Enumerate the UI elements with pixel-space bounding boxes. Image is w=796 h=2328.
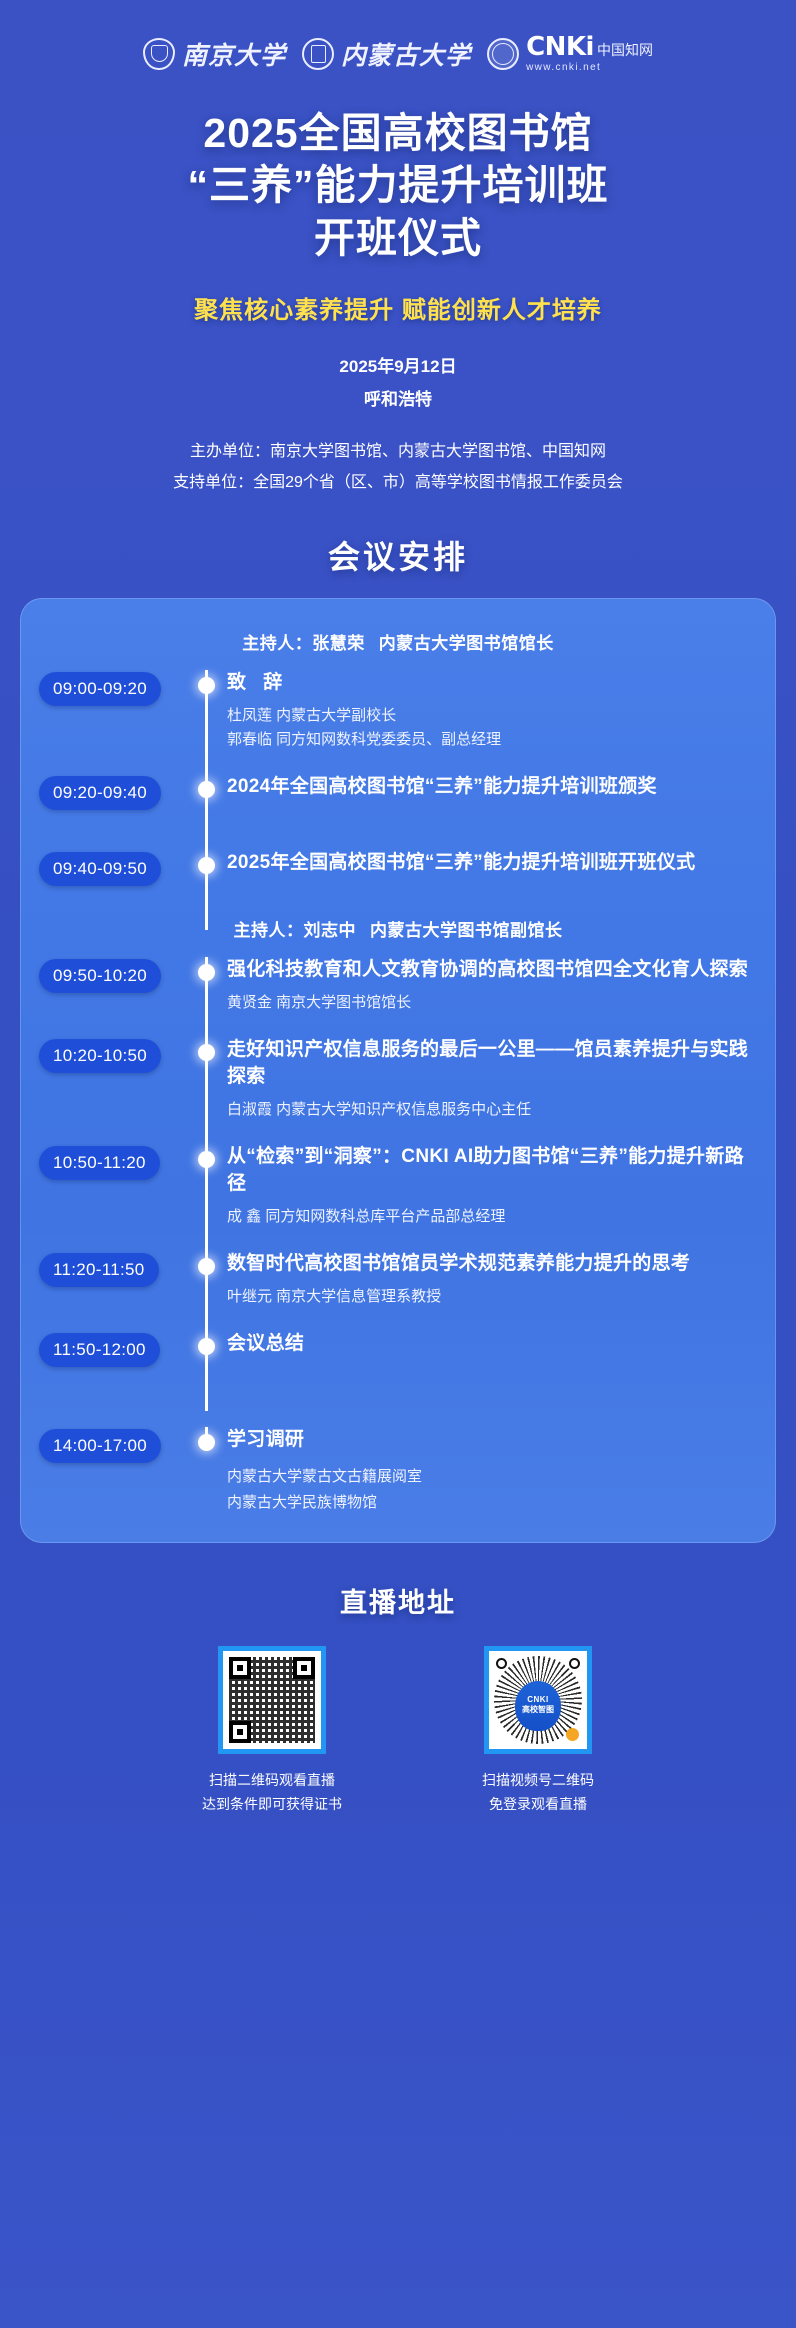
- conference-poster: 南京大学 内蒙古大学 CNKi 中国知网 www.cnki.net 2025全国…: [0, 0, 796, 2328]
- session-title: 致 辞: [227, 670, 755, 697]
- support-organizations: 支持单位：全国29个省（区、市）高等学校图书情报工作委员会: [46, 467, 750, 498]
- qr-frame-live[interactable]: [218, 1646, 326, 1754]
- session-speaker: 杜凤莲 内蒙古大学副校长: [227, 704, 755, 728]
- session-speaker: 白淑霞 内蒙古大学知识产权信息服务中心主任: [227, 1098, 755, 1122]
- time-badge: 09:50-10:20: [39, 959, 161, 993]
- imu-crest-icon: [302, 38, 334, 70]
- logo-cnki: CNKi 中国知网 www.cnki.net: [487, 34, 653, 73]
- timeline-marker: [189, 1427, 223, 1516]
- session-title: 数智时代高校图书馆馆员学术规范素养能力提升的思考: [227, 1251, 755, 1278]
- qr-code-live-icon[interactable]: [223, 1651, 321, 1749]
- logo-imu: 内蒙古大学: [302, 36, 471, 72]
- time-badge: 14:00-17:00: [39, 1429, 161, 1463]
- agenda-row: 09:20-09:40 2024年全国高校图书馆“三养”能力提升培训班颁奖: [21, 774, 775, 828]
- content-col: 2024年全国高校图书馆“三养”能力提升培训班颁奖: [223, 774, 761, 801]
- timeline-dot-icon: [198, 857, 215, 874]
- session-title: 2025年全国高校图书馆“三养”能力提升培训班开班仪式: [227, 850, 755, 877]
- timeline-dot-icon: [198, 1044, 215, 1061]
- session-speaker: 黄贤金 南京大学图书馆馆长: [227, 991, 755, 1015]
- content-col: 强化科技教育和人文教育协调的高校图书馆四全文化育人探索 黄贤金 南京大学图书馆馆…: [223, 957, 761, 1015]
- event-city: 呼和浩特: [20, 384, 776, 416]
- agenda-row: 11:20-11:50 数智时代高校图书馆馆员学术规范素养能力提升的思考 叶继元…: [21, 1251, 775, 1309]
- timeline-marker: [189, 1037, 223, 1122]
- time-badge: 11:20-11:50: [39, 1253, 159, 1287]
- session-title: 2024年全国高校图书馆“三养”能力提升培训班颁奖: [227, 774, 755, 801]
- time-col: 11:20-11:50: [39, 1251, 189, 1287]
- agenda-row: 09:50-10:20 强化科技教育和人文教育协调的高校图书馆四全文化育人探索 …: [21, 957, 775, 1015]
- logo-nju: 南京大学: [143, 36, 286, 72]
- page-title: 2025全国高校图书馆 “三养”能力提升培训班 开班仪式: [20, 107, 776, 264]
- timeline-marker: [189, 1251, 223, 1309]
- cnki-url: www.cnki.net: [526, 63, 653, 73]
- timeline-marker: [189, 774, 223, 828]
- session-title: 走好知识产权信息服务的最后一公里——馆员素养提升与实践探索: [227, 1037, 755, 1091]
- time-col: 11:50-12:00: [39, 1331, 189, 1367]
- title-line-2: “三养”能力提升培训班: [20, 159, 776, 211]
- time-col: 09:50-10:20: [39, 957, 189, 993]
- session-venue: 内蒙古大学蒙古文古籍展阅室: [227, 1464, 755, 1490]
- agenda-row: 10:50-11:20 从“检索”到“洞察”：CNKI AI助力图书馆“三养”能…: [21, 1144, 775, 1229]
- qr-caption-live-line2: 达到条件即可获得证书: [202, 1792, 342, 1817]
- live-heading: 直播地址: [0, 1581, 796, 1620]
- event-datetime: 2025年9月12日 呼和浩特: [20, 351, 776, 416]
- title-line-3: 开班仪式: [20, 212, 776, 264]
- logo-bar: 南京大学 内蒙古大学 CNKi 中国知网 www.cnki.net: [0, 0, 796, 91]
- qr-item-live: 扫描二维码观看直播 达到条件即可获得证书: [202, 1646, 342, 1817]
- session-speaker: 叶继元 南京大学信息管理系教授: [227, 1285, 755, 1309]
- content-col: 数智时代高校图书馆馆员学术规范素养能力提升的思考 叶继元 南京大学信息管理系教授: [223, 1251, 761, 1309]
- cnki-wordmark: CNKi: [526, 34, 594, 60]
- qr-code-channel-icon[interactable]: CNKI 高校智图: [489, 1651, 587, 1749]
- timeline-dot-icon: [198, 677, 215, 694]
- content-col: 致 辞 杜凤莲 内蒙古大学副校长 郭春临 同方知网数科党委委员、副总经理: [223, 670, 761, 752]
- host-2-name: 刘志中: [304, 921, 357, 940]
- timeline-dot-icon: [198, 781, 215, 798]
- qr-row: 扫描二维码观看直播 达到条件即可获得证书 CNKI 高校智图 扫描视频号二: [0, 1646, 796, 1817]
- qr-caption-channel-line2: 免登录观看直播: [482, 1792, 594, 1817]
- session-venue: 内蒙古大学民族博物馆: [227, 1490, 755, 1516]
- timeline-dot-icon: [198, 964, 215, 981]
- title-block: 2025全国高校图书馆 “三养”能力提升培训班 开班仪式 聚焦核心素养提升 赋能…: [0, 91, 796, 498]
- time-col: 09:40-09:50: [39, 850, 189, 886]
- agenda-row: 14:00-17:00 学习调研 内蒙古大学蒙古文古籍展阅室 内蒙古大学民族博物…: [21, 1427, 775, 1516]
- agenda-row: 09:00-09:20 致 辞 杜凤莲 内蒙古大学副校长 郭春临 同方知网数科党…: [21, 670, 775, 752]
- time-col: 14:00-17:00: [39, 1427, 189, 1463]
- content-col: 2025年全国高校图书馆“三养”能力提升培训班开班仪式: [223, 850, 761, 877]
- time-badge: 11:50-12:00: [39, 1333, 160, 1367]
- timeline-marker: [189, 850, 223, 904]
- agenda-row: 10:20-10:50 走好知识产权信息服务的最后一公里——馆员素养提升与实践探…: [21, 1037, 775, 1122]
- host-1-name: 张慧荣: [312, 634, 365, 653]
- session-title: 会议总结: [227, 1331, 755, 1358]
- host-row-2: 主持人：刘志中内蒙古大学图书馆副馆长: [21, 904, 775, 957]
- time-badge: 09:40-09:50: [39, 852, 161, 886]
- agenda-card: 主持人：张慧荣内蒙古大学图书馆馆长 09:00-09:20 致 辞 杜凤莲 内蒙…: [20, 598, 776, 1542]
- agenda-row: 11:50-12:00 会议总结: [21, 1331, 775, 1385]
- nju-crest-icon: [143, 38, 175, 70]
- time-col: 10:50-11:20: [39, 1144, 189, 1180]
- time-col: 09:20-09:40: [39, 774, 189, 810]
- timeline-dot-icon: [198, 1258, 215, 1275]
- agenda-row: 09:40-09:50 2025年全国高校图书馆“三养”能力提升培训班开班仪式: [21, 850, 775, 904]
- qr-caption-live: 扫描二维码观看直播 达到条件即可获得证书: [202, 1768, 342, 1817]
- time-badge: 09:00-09:20: [39, 672, 161, 706]
- title-line-1: 2025全国高校图书馆: [20, 107, 776, 159]
- logo-imu-label: 内蒙古大学: [341, 36, 471, 72]
- content-col: 学习调研 内蒙古大学蒙古文古籍展阅室 内蒙古大学民族博物馆: [223, 1427, 761, 1516]
- timeline-marker: [189, 670, 223, 752]
- time-badge: 09:20-09:40: [39, 776, 161, 810]
- content-col: 走好知识产权信息服务的最后一公里——馆员素养提升与实践探索 白淑霞 内蒙古大学知…: [223, 1037, 761, 1122]
- host-1-label: 主持人：: [242, 634, 312, 653]
- host-1-role: 内蒙古大学图书馆馆长: [379, 634, 554, 653]
- session-speaker: 成 鑫 同方知网数科总库平台产品部总经理: [227, 1205, 755, 1229]
- qr-frame-channel[interactable]: CNKI 高校智图: [484, 1646, 592, 1754]
- time-col: 09:00-09:20: [39, 670, 189, 706]
- wechat-channel-icon: [566, 1728, 579, 1741]
- timeline-dot-icon: [198, 1151, 215, 1168]
- event-date: 2025年9月12日: [20, 351, 776, 383]
- subtitle: 聚焦核心素养提升 赋能创新人才培养: [20, 290, 776, 325]
- cnki-channel-badge: CNKI 高校智图: [515, 1681, 561, 1731]
- session-title: 强化科技教育和人文教育协调的高校图书馆四全文化育人探索: [227, 957, 755, 984]
- timeline-dot-icon: [198, 1434, 215, 1451]
- content-col: 会议总结: [223, 1331, 761, 1358]
- time-badge: 10:50-11:20: [39, 1146, 160, 1180]
- timeline-marker: [189, 1144, 223, 1229]
- host-2-label: 主持人：: [234, 921, 304, 940]
- qr-caption-channel: 扫描视频号二维码 免登录观看直播: [482, 1768, 594, 1817]
- qr-caption-live-line1: 扫描二维码观看直播: [202, 1768, 342, 1793]
- cnki-channel-badge-line1: CNKI: [527, 1696, 549, 1705]
- cnki-channel-badge-line2: 高校智图: [522, 1706, 554, 1715]
- organizer-block: 主办单位：南京大学图书馆、内蒙古大学图书馆、中国知网 支持单位：全国29个省（区…: [46, 436, 750, 498]
- session-title: 学习调研: [227, 1427, 755, 1454]
- timeline-marker: [189, 957, 223, 1015]
- cnki-chinese-name: 中国知网: [597, 45, 653, 59]
- time-badge: 10:20-10:50: [39, 1039, 161, 1073]
- agenda-heading: 会议安排: [0, 532, 796, 578]
- timeline-marker: [189, 1331, 223, 1385]
- host-row-1: 主持人：张慧荣内蒙古大学图书馆馆长: [21, 617, 775, 670]
- session-title: 从“检索”到“洞察”：CNKI AI助力图书馆“三养”能力提升新路径: [227, 1144, 755, 1198]
- session-speaker: 郭春临 同方知网数科党委委员、副总经理: [227, 728, 755, 752]
- qr-caption-channel-line1: 扫描视频号二维码: [482, 1768, 594, 1793]
- qr-item-channel: CNKI 高校智图 扫描视频号二维码 免登录观看直播: [482, 1646, 594, 1817]
- cnki-globe-icon: [487, 38, 519, 70]
- logo-nju-label: 南京大学: [182, 36, 286, 72]
- host-organizations: 主办单位：南京大学图书馆、内蒙古大学图书馆、中国知网: [46, 436, 750, 467]
- host-2-role: 内蒙古大学图书馆副馆长: [370, 921, 563, 940]
- timeline-dot-icon: [198, 1338, 215, 1355]
- content-col: 从“检索”到“洞察”：CNKI AI助力图书馆“三养”能力提升新路径 成 鑫 同…: [223, 1144, 761, 1229]
- time-col: 10:20-10:50: [39, 1037, 189, 1073]
